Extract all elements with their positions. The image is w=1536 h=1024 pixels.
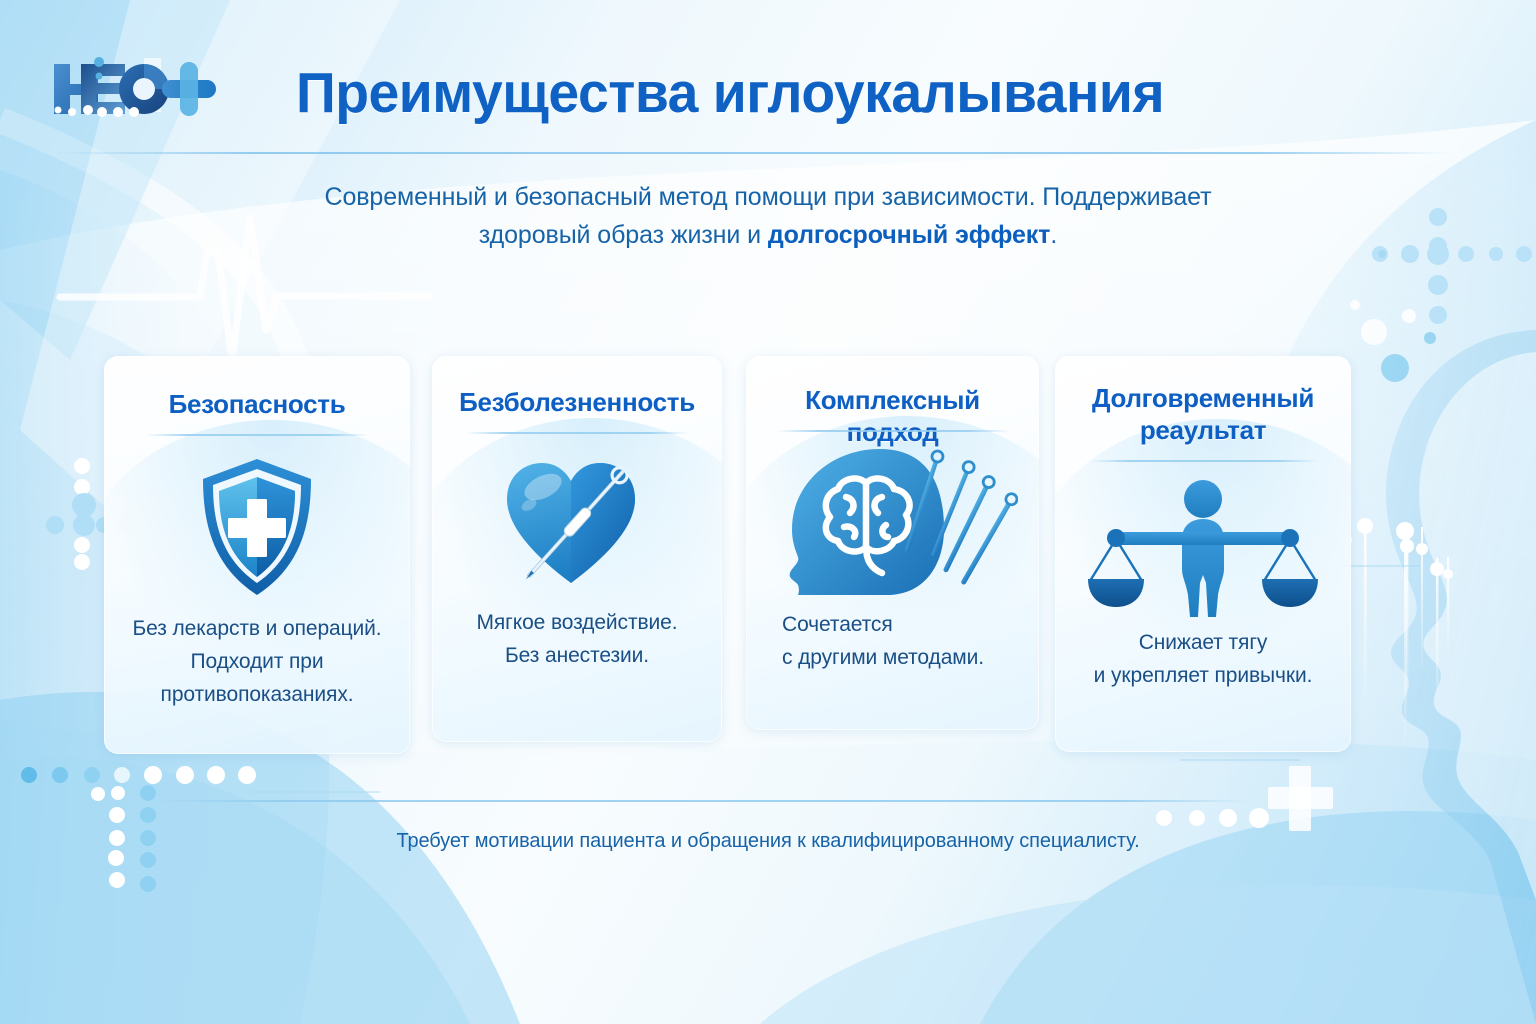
card-divider (1089, 460, 1317, 462)
card-title: Долговременный реаультат (1069, 382, 1337, 446)
card-text-line: с другими методами. (782, 646, 984, 669)
footer-note: Требует мотивации пациента и обращения к… (168, 826, 1368, 856)
card-text-line: Мягкое воздействие. (477, 611, 678, 634)
card-text-line: Сочетается (782, 613, 893, 636)
card-text: Без лекарств и операций. Подходит при пр… (114, 612, 400, 711)
infographic-canvas: Преимущества иглоукалывания Современный … (0, 0, 1536, 1024)
card-text-line: противопоказаниях. (161, 683, 354, 706)
benefit-card-painless[interactable]: Безболезненность (432, 356, 722, 742)
card-text-line: Без лекарств и операций. (132, 617, 381, 640)
subtitle-line-2-suffix: . (1050, 221, 1057, 249)
card-title: Комплексный подход (760, 384, 1025, 448)
benefit-card-safety[interactable]: Безопасность (104, 356, 410, 754)
card-text-line: Подходит при (190, 650, 323, 673)
card-text-line: и укрепляет привычки. (1094, 664, 1313, 687)
dot-cross-top-right (1372, 208, 1532, 324)
page-subtitle: Современный и безопасный метод помощи пр… (268, 178, 1268, 254)
subtitle-highlight: долгосрочный эффект (768, 221, 1051, 249)
card-divider (466, 432, 688, 434)
dot-accents-right (1350, 300, 1416, 345)
card-title: Безопасность (118, 388, 396, 420)
shield-cross-icon (104, 448, 410, 608)
card-text: Снижает тягу и укрепляет привычки. (1065, 626, 1341, 692)
benefit-card-complex-approach[interactable]: Комплексный подход (746, 356, 1039, 730)
card-text-line: Снижает тягу (1139, 631, 1268, 654)
subtitle-line-1: Современный и безопасный метод помощи пр… (324, 183, 1211, 211)
page-title: Преимущества иглоукалывания (296, 60, 1164, 126)
heart-needle-icon (432, 444, 722, 604)
header-divider (52, 152, 1452, 154)
benefit-card-long-term-result[interactable]: Долговременный реаультат (1055, 356, 1351, 752)
subtitle-line-2-prefix: здоровый образ жизни и (479, 221, 768, 249)
card-text: Сочетается с другими методами. (782, 608, 1025, 674)
card-divider (776, 430, 1009, 432)
benefit-card-list: Безопасность (0, 356, 1536, 766)
page-header: Преимущества иглоукалывания (0, 0, 1536, 152)
logo-neo-plus[interactable] (52, 52, 252, 126)
card-text: Мягкое воздействие. Без анестезии. (442, 606, 712, 672)
balance-person-icon (1055, 472, 1351, 622)
dot-row-bottom-right (1156, 808, 1269, 828)
card-title: Безболезненность (446, 386, 708, 418)
card-divider (146, 434, 368, 436)
card-text-line: Без анестезии. (505, 644, 649, 667)
head-brain-needles-icon (746, 440, 1039, 600)
footer-divider (150, 800, 1250, 802)
plus-symbol-bottom-right (1268, 766, 1333, 831)
